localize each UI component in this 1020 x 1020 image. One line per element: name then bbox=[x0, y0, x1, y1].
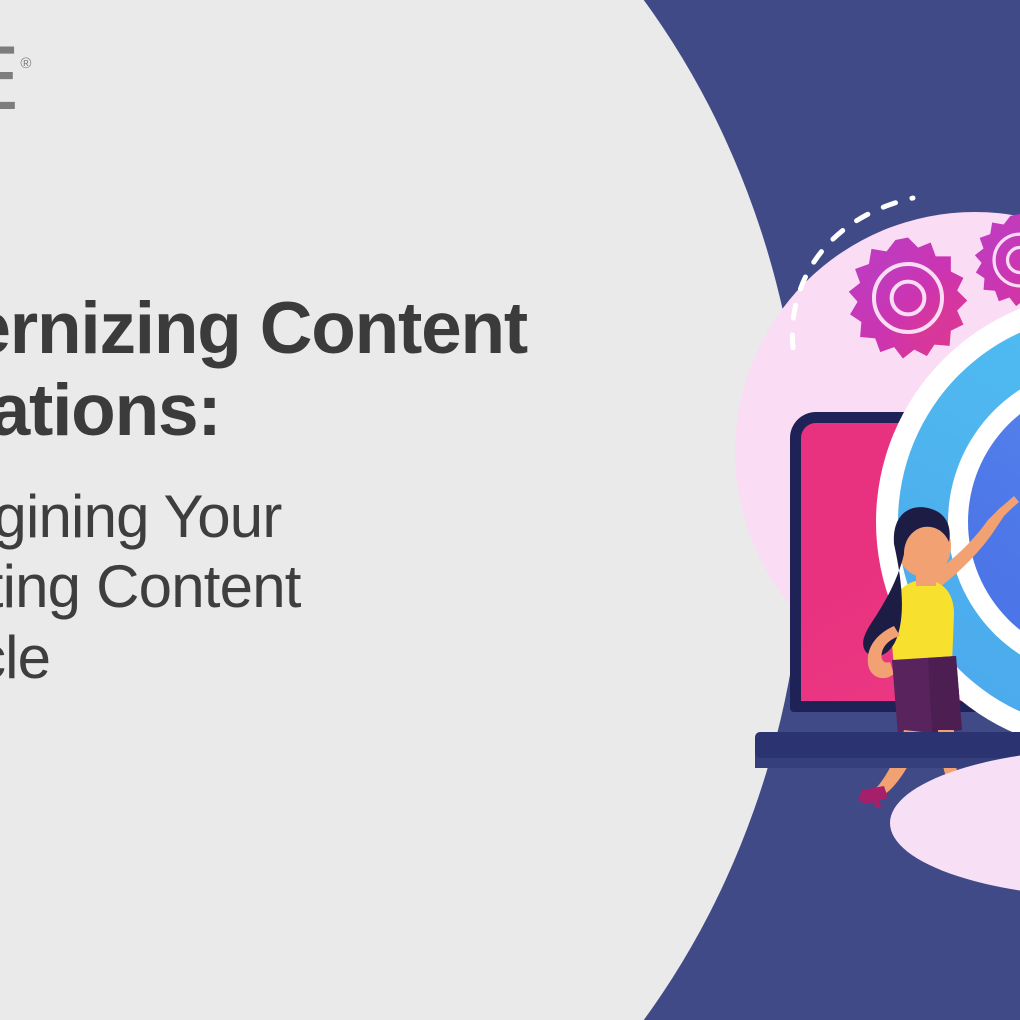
page-subtitle: Reimagining Your Marketing Content Lifec… bbox=[0, 482, 694, 694]
laptop-base bbox=[755, 732, 1020, 758]
banner-canvas: E ® Modernizing Content Operations: Reim… bbox=[0, 0, 1020, 1020]
gear-large-icon bbox=[845, 235, 971, 361]
brand-logo-mark: E bbox=[0, 47, 18, 114]
brand-logo[interactable]: E ® bbox=[0, 47, 31, 114]
registered-trademark-icon: ® bbox=[20, 56, 31, 71]
text-block: Modernizing Content Operations: Reimagin… bbox=[0, 288, 694, 694]
page-title: Modernizing Content Operations: bbox=[0, 288, 694, 452]
hero-illustration bbox=[690, 150, 1020, 870]
gear-small-icon bbox=[972, 212, 1020, 308]
